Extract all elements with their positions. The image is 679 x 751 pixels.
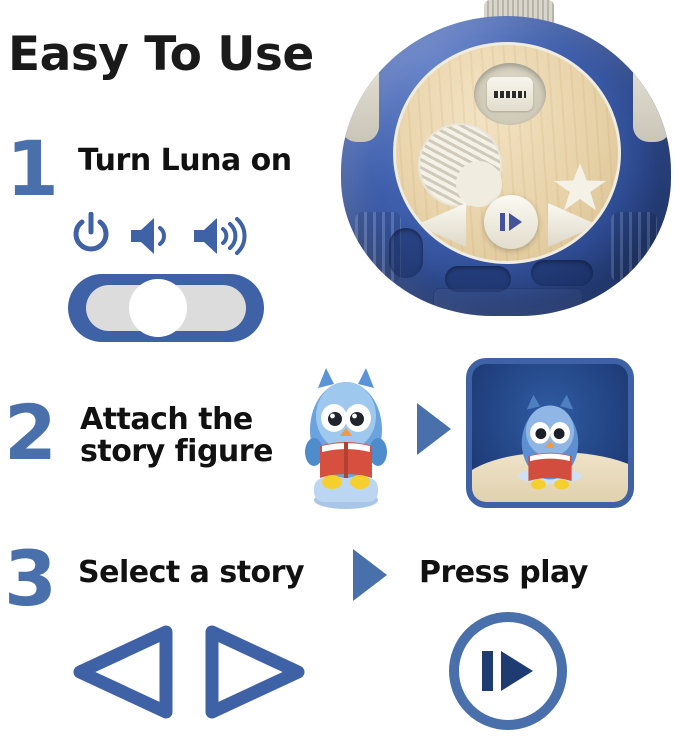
- device-previous-button[interactable]: [416, 203, 466, 247]
- step-1-icon-row: [70, 212, 270, 260]
- page-title: Easy To Use: [8, 31, 314, 78]
- power-toggle[interactable]: [68, 274, 264, 342]
- device-body: [341, 16, 671, 316]
- play-pause-icon: [478, 645, 538, 697]
- step-1-number: 1: [6, 131, 57, 207]
- socket-plug: [487, 77, 533, 111]
- device-play-button[interactable]: [484, 195, 538, 249]
- step-3-heading: Select a story: [78, 557, 304, 589]
- owl-story-figure: [296, 360, 396, 510]
- device-side-grip-right: [633, 50, 671, 142]
- device-slot-1: [389, 228, 423, 278]
- play-pause-button[interactable]: [449, 612, 567, 730]
- device-battery-door: [433, 288, 583, 316]
- step-2-number: 2: [4, 395, 55, 471]
- step-1-heading: Turn Luna on: [78, 145, 292, 177]
- infographic-page: Easy To Use 1 Turn Luna on: [0, 0, 679, 751]
- device-next-button[interactable]: [548, 203, 598, 247]
- device-wood-faceplate: [393, 42, 621, 264]
- owl-on-device-photo: [466, 358, 634, 508]
- luna-story-player-device: [333, 0, 679, 330]
- step-2-heading-line1: Attach the: [80, 404, 310, 436]
- device-side-grip-left: [341, 50, 379, 142]
- next-track-button[interactable]: [196, 618, 316, 726]
- speaker-grille: [418, 123, 502, 207]
- volume-low-icon: [127, 216, 175, 261]
- figure-socket: [474, 63, 546, 125]
- step-3-number: 3: [4, 541, 55, 617]
- star-button[interactable]: [554, 163, 606, 213]
- socket-pins: [494, 91, 526, 98]
- device-slot-3: [531, 260, 593, 286]
- step-2-heading: Attach the story figure: [80, 404, 310, 467]
- toggle-track: [86, 285, 246, 331]
- power-icon: [70, 212, 112, 263]
- arrow-right-icon-step3: [353, 549, 387, 601]
- arrow-right-icon-step2: [417, 403, 451, 455]
- press-play-heading: Press play: [419, 557, 588, 589]
- volume-high-icon: [190, 216, 256, 261]
- previous-track-button[interactable]: [62, 618, 182, 726]
- step-2-heading-line2: story figure: [80, 436, 310, 468]
- device-ridges-right: [611, 212, 657, 282]
- toggle-knob[interactable]: [129, 279, 187, 337]
